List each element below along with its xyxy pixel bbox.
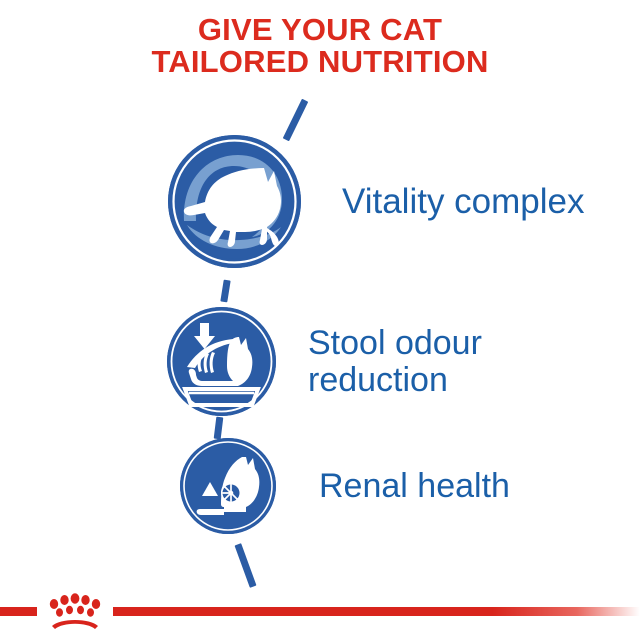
walking-cat-icon: [168, 135, 301, 268]
benefit-item-vitality-complex[interactable]: Vitality complex: [168, 135, 585, 268]
connector-dash-1-2: [220, 280, 230, 303]
brand-bar: [0, 578, 640, 640]
headline-line-1: GIVE YOUR CAT: [0, 14, 640, 46]
royal-canin-crown-logo: [40, 590, 110, 632]
headline-line-2: TAILORED NUTRITION: [0, 46, 640, 78]
cat-litter-box-arrow-icon: [167, 307, 276, 416]
benefit-item-stool-odour-reduction[interactable]: Stool odour reduction: [167, 307, 482, 416]
cat-kidney-icon: [180, 438, 276, 534]
benefit-label-renal-health: Renal health: [319, 468, 510, 504]
brand-rule-right: [113, 607, 640, 616]
poster-canvas: GIVE YOUR CAT TAILORED NUTRITION Vitalit: [0, 0, 640, 640]
benefit-label-vitality-complex: Vitality complex: [342, 183, 585, 220]
brand-rule-left: [0, 607, 37, 616]
benefit-label-stool-odour-reduction: Stool odour reduction: [308, 325, 482, 397]
page-title: GIVE YOUR CAT TAILORED NUTRITION: [0, 14, 640, 77]
connector-dash-2-3: [214, 417, 224, 440]
benefit-item-renal-health[interactable]: Renal health: [180, 438, 510, 534]
